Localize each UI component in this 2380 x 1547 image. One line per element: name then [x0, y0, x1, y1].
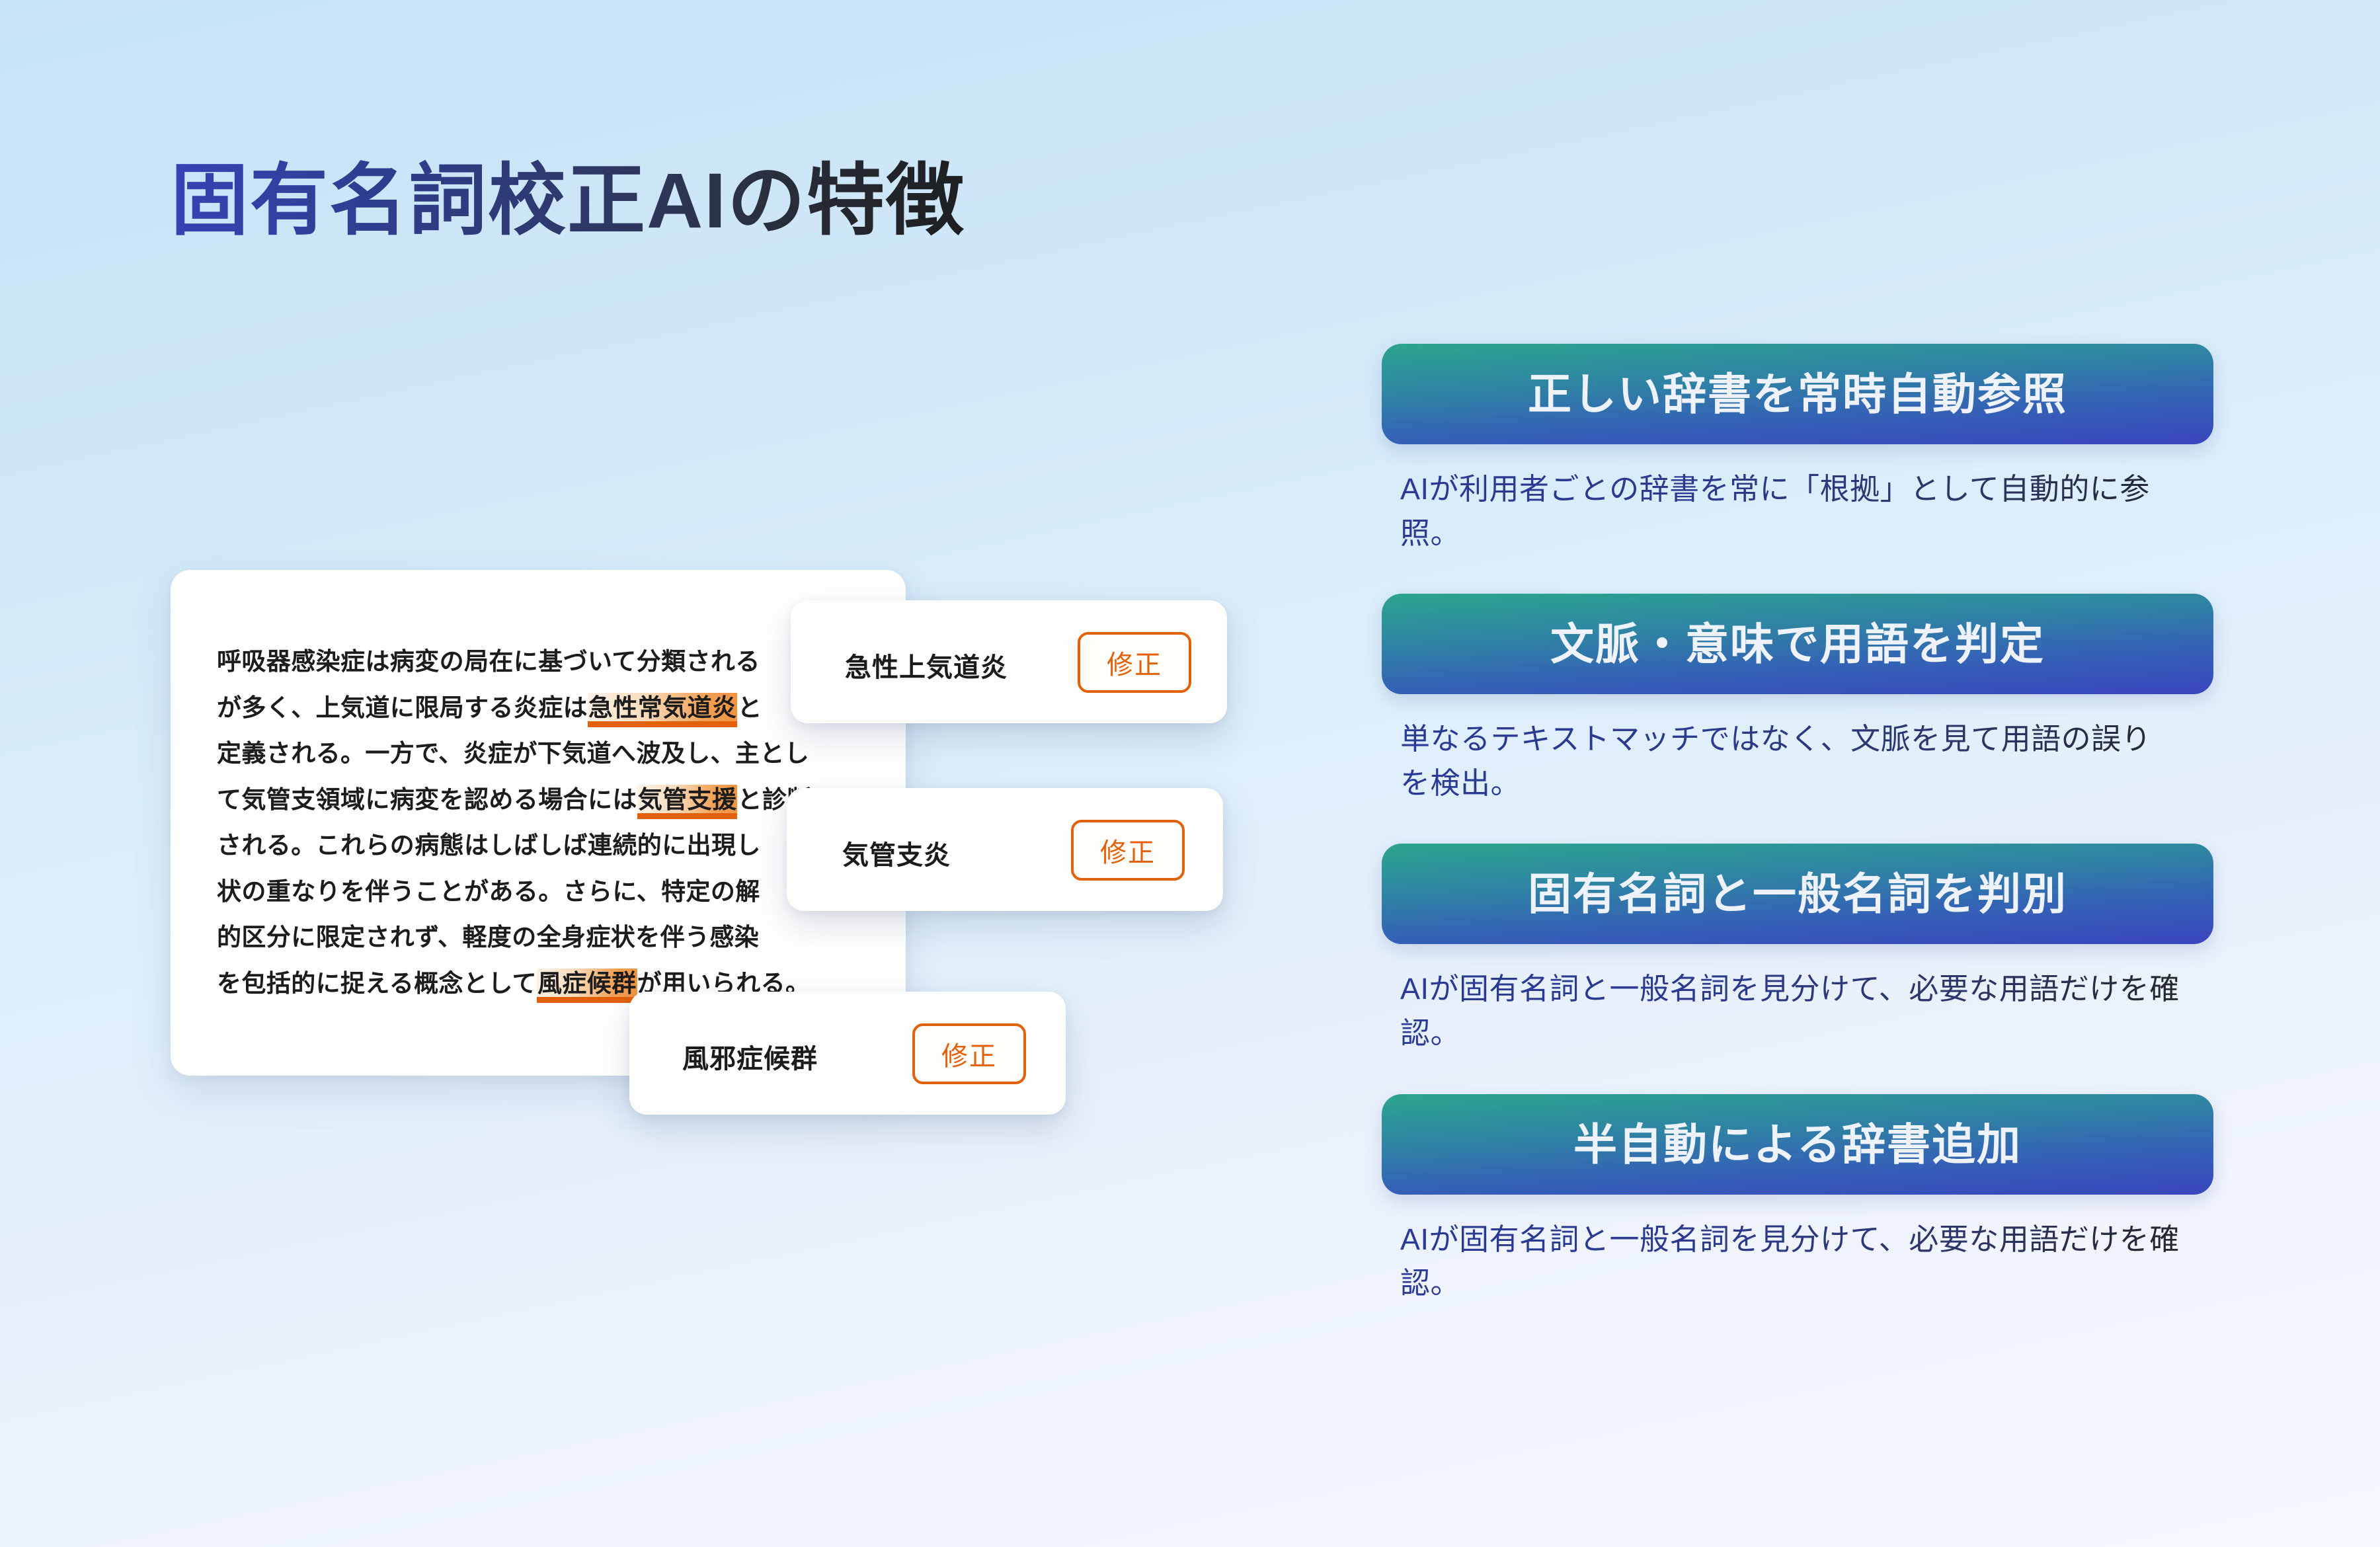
feature-badge: 半自動による辞書追加 [1382, 1094, 2213, 1195]
document-text: と [737, 694, 762, 721]
flagged-term[interactable]: 急性常気道炎 [588, 693, 737, 727]
suggestion-card[interactable]: 風邪症候群 修正 [629, 992, 1066, 1115]
document-text: 定義される。一方で、炎症が下気道へ波及し、主とし [217, 740, 809, 767]
fix-button[interactable]: 修正 [1078, 632, 1191, 693]
document-text: が多く、上気道に限局する炎症は [217, 694, 588, 721]
feature-badge: 固有名詞と一般名詞を判別 [1382, 844, 2213, 944]
feature-item: 半自動による辞書追加 AIが固有名詞と一般名詞を見分けて、必要な用語だけを確認。 [1382, 1094, 2221, 1306]
document-line: 呼吸器感染症は病変の局在に基づいて分類される [217, 639, 877, 685]
document-text: 状の重なりを伴うことがある。さらに、特定の解 [217, 878, 760, 905]
document-text: される。これらの病態はしばしば連続的に出現し [217, 832, 761, 859]
document-text: を包括的に捉える概念として [217, 970, 537, 997]
feature-item: 正しい辞書を常時自動参照 AIが利用者ごとの辞書を常に「根拠」として自動的に参照… [1382, 344, 2221, 555]
fix-button[interactable]: 修正 [1071, 820, 1185, 881]
fix-button[interactable]: 修正 [912, 1023, 1026, 1084]
feature-description: 単なるテキストマッチではなく、文脈を見て用語の誤りを検出。 [1400, 717, 2180, 805]
document-line: される。これらの病態はしばしば連続的に出現し [217, 822, 877, 869]
feature-description: AIが固有名詞と一般名詞を見分けて、必要な用語だけを確認。 [1400, 1218, 2180, 1306]
feature-description: AIが固有名詞と一般名詞を見分けて、必要な用語だけを確認。 [1400, 967, 2180, 1055]
document-line: 状の重なりを伴うことがある。さらに、特定の解 [217, 869, 877, 915]
flagged-term[interactable]: 気管支援 [637, 785, 738, 819]
document-text: 呼吸器感染症は病変の局在に基づいて分類される [217, 648, 760, 675]
suggestion-card[interactable]: 気管支炎 修正 [787, 788, 1223, 911]
document-line: 定義される。一方で、炎症が下気道へ波及し、主とし [217, 731, 877, 777]
document-line: て気管支領域に病変を認める場合には気管支援と診断 [217, 777, 877, 823]
document-text-body: 呼吸器感染症は病変の局在に基づいて分類されるが多く、上気道に限局する炎症は急性常… [217, 639, 877, 1006]
feature-badge: 正しい辞書を常時自動参照 [1382, 344, 2213, 444]
editor-mockup: 呼吸器感染症は病変の局在に基づいて分類されるが多く、上気道に限局する炎症は急性常… [0, 0, 1190, 1547]
suggestion-term: 風邪症候群 [682, 1037, 818, 1076]
flagged-term[interactable]: 風症候群 [537, 969, 637, 1003]
suggestion-term: 気管支炎 [842, 834, 951, 872]
suggestion-term: 急性上気道炎 [845, 646, 1008, 684]
feature-item: 固有名詞と一般名詞を判別 AIが固有名詞と一般名詞を見分けて、必要な用語だけを確… [1382, 844, 2221, 1055]
document-line: 的区分に限定されず、軽度の全身症状を伴う感染 [217, 914, 877, 961]
feature-badge: 文脈・意味で用語を判定 [1382, 594, 2213, 694]
document-text: 的区分に限定されず、軽度の全身症状を伴う感染 [217, 924, 759, 951]
feature-item: 文脈・意味で用語を判定 単なるテキストマッチではなく、文脈を見て用語の誤りを検出… [1382, 594, 2221, 805]
document-line: が多く、上気道に限局する炎症は急性常気道炎と [217, 685, 877, 731]
feature-description: AIが利用者ごとの辞書を常に「根拠」として自動的に参照。 [1400, 467, 2180, 555]
suggestion-card[interactable]: 急性上気道炎 修正 [791, 600, 1227, 723]
feature-list: 正しい辞書を常時自動参照 AIが利用者ごとの辞書を常に「根拠」として自動的に参照… [1382, 344, 2221, 1306]
document-text: て気管支領域に病変を認める場合には [217, 786, 637, 813]
